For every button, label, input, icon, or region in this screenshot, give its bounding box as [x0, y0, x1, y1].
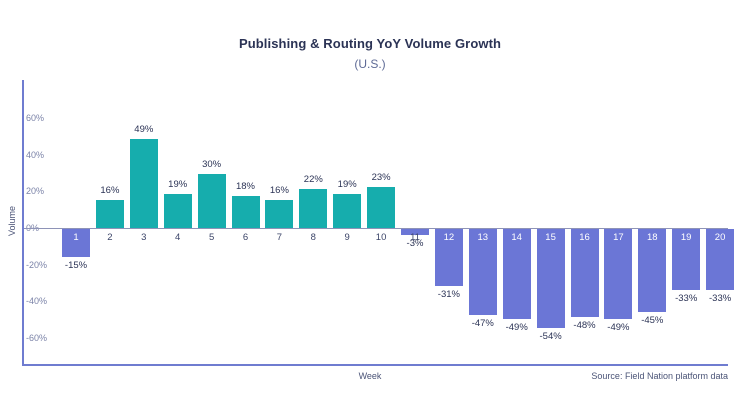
bar-week-5[interactable]: [198, 174, 226, 229]
bar-week-15[interactable]: [537, 229, 565, 328]
source-note: Source: Field Nation platform data: [591, 371, 728, 381]
value-label-week-12: -31%: [426, 289, 472, 300]
week-label-20: 20: [697, 232, 740, 243]
bar-week-2[interactable]: [96, 200, 124, 229]
value-label-week-18: -45%: [629, 315, 675, 326]
bar-week-10[interactable]: [367, 187, 395, 229]
bar-week-3[interactable]: [130, 139, 158, 229]
zero-baseline: [24, 228, 728, 229]
bar-rect: [130, 139, 158, 229]
bar-rect: [232, 196, 260, 229]
bar-rect: [537, 229, 565, 328]
plot-area: -15%116%249%319%430%518%616%722%819%923%…: [0, 0, 740, 415]
bar-week-8[interactable]: [299, 189, 327, 229]
bar-week-4[interactable]: [164, 194, 192, 229]
chart-root: Publishing & Routing YoY Volume Growth (…: [0, 0, 740, 415]
value-label-week-3: 49%: [121, 124, 167, 135]
value-label-week-7: 16%: [256, 185, 302, 196]
value-label-week-2: 16%: [87, 185, 133, 196]
bar-week-9[interactable]: [333, 194, 361, 229]
value-label-week-10: 23%: [358, 172, 404, 183]
bar-rect: [265, 200, 293, 229]
value-label-week-15: -54%: [528, 331, 574, 342]
value-label-week-20: -33%: [697, 293, 740, 304]
value-label-week-5: 30%: [189, 159, 235, 170]
bar-rect: [333, 194, 361, 229]
bar-rect: [164, 194, 192, 229]
bar-rect: [198, 174, 226, 229]
bar-week-6[interactable]: [232, 196, 260, 229]
bar-rect: [367, 187, 395, 229]
bar-rect: [96, 200, 124, 229]
bar-week-7[interactable]: [265, 200, 293, 229]
value-label-week-4: 19%: [155, 179, 201, 190]
value-label-week-1: -15%: [53, 260, 99, 271]
bar-rect: [299, 189, 327, 229]
